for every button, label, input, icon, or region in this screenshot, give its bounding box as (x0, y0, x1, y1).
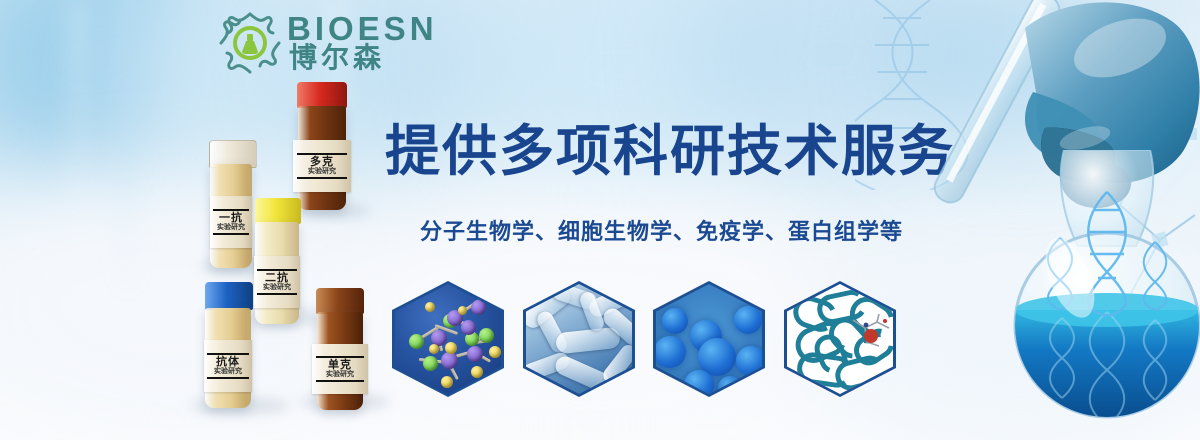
vial-label-line2: 实验研究 (214, 368, 242, 376)
background-streak (118, 0, 136, 300)
bottle-label: 多克 实验研究 (293, 140, 351, 192)
hex-proteomics[interactable] (784, 281, 896, 397)
hex-microbiology[interactable] (523, 281, 635, 397)
bottle-monoclonal[interactable]: 单克 实验研究 (312, 288, 370, 410)
round-bottom-flask-with-blue-liquid (1012, 150, 1200, 440)
hex-cell-biology[interactable] (653, 281, 765, 397)
hex-molecular-biology-image (395, 284, 501, 394)
page-title: 提供多项科研技术服务 (385, 124, 945, 179)
bottle-label-line2: 实验研究 (326, 371, 354, 379)
promo-banner: BIOESN 博尔森 提供多项科研技术服务 分子生物学、细胞生物学、免疫学、蛋白… (0, 0, 1200, 440)
bottle-label: 单克 实验研究 (312, 344, 368, 394)
background-streak (72, 0, 82, 300)
hex-proteomics-image (787, 284, 893, 394)
service-hexagon-row (392, 281, 912, 397)
hex-microbiology-image (526, 284, 632, 394)
vial-antibody[interactable]: 抗体 实验研究 (203, 282, 257, 410)
page-subtitle: 分子生物学、细胞生物学、免疫学、蛋白组学等 (420, 222, 940, 244)
logo-swirl-mark-icon (215, 8, 285, 78)
vial-label-line2: 实验研究 (263, 284, 291, 292)
logo-chinese-name: 博尔森 (289, 44, 385, 72)
bottle-polyclonal[interactable]: 多克 实验研究 (293, 82, 353, 212)
heme-ligand-icon (849, 312, 893, 352)
bottle-label-line2: 实验研究 (308, 168, 336, 176)
vial-secondary-antibody[interactable]: 二抗 实验研究 (253, 198, 305, 326)
vial-label: 抗体 实验研究 (204, 340, 252, 392)
vial-label-line2: 实验研究 (217, 224, 245, 232)
vial-primary-antibody[interactable]: 一抗 实验研究 (208, 140, 256, 270)
vial-label: 二抗 实验研究 (254, 256, 300, 308)
hex-molecular-biology[interactable] (392, 281, 504, 397)
logo[interactable]: BIOESN 博尔森 (215, 8, 405, 80)
vial-label: 一抗 实验研究 (210, 196, 252, 248)
hex-cell-biology-image (656, 284, 762, 394)
